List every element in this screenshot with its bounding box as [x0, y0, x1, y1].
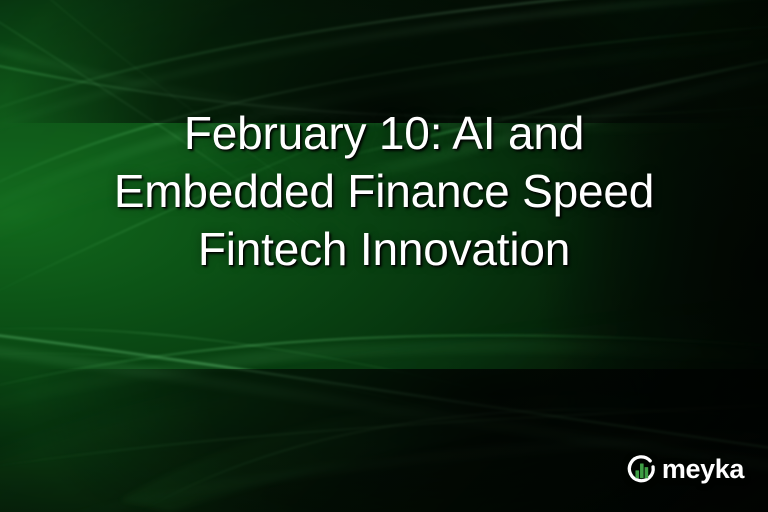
brand-logo[interactable]: meyka: [625, 453, 744, 486]
page-title: February 10: AI and Embedded Finance Spe…: [0, 104, 768, 278]
circular-bar-chart-icon: [625, 453, 658, 486]
background-bottom-shadow: [0, 369, 768, 512]
title-block: February 10: AI and Embedded Finance Spe…: [0, 104, 768, 278]
article-banner: February 10: AI and Embedded Finance Spe…: [0, 0, 768, 512]
brand-name: meyka: [662, 456, 744, 483]
